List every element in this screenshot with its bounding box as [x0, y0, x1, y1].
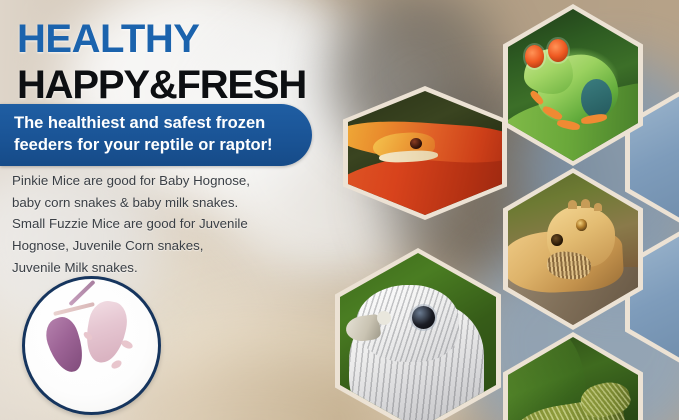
hex-tile-falcon [335, 248, 501, 420]
hex-tile-lizard-image [508, 337, 638, 420]
hex-tile-frog [503, 4, 643, 166]
feeder-banner-ad: HEALTHY HAPPY&FRESH The healthiest and s… [0, 0, 679, 420]
dragon-eye [576, 219, 588, 231]
body-copy-line: Small Fuzzie Mice are good for Juvenile [12, 213, 312, 235]
dragon-spike [581, 199, 590, 208]
hex-tile-snake [343, 86, 507, 220]
body-copy-line: baby corn snakes & baby milk snakes. [12, 192, 312, 214]
body-copy-line: Pinkie Mice are good for Baby Hognose, [12, 170, 312, 192]
hex-tile-frog-image [508, 9, 638, 161]
pinkie-mice-photo [22, 276, 161, 415]
dragon-spike [594, 203, 602, 211]
hex-tile-falcon-image [340, 253, 496, 420]
hex-tile-dragon [503, 168, 643, 330]
dragon-spike [568, 200, 577, 209]
falcon-eye [412, 306, 435, 329]
tagline-banner: The healthiest and safest frozen feeders… [0, 104, 312, 166]
mouse-tail [53, 302, 95, 316]
hex-tile-dragon-image [508, 173, 638, 325]
headline-line-2: HAPPY&FRESH [17, 65, 306, 105]
frog-photo [508, 9, 638, 161]
dragon-nostril [551, 234, 563, 246]
body-copy-line: Hognose, Juvenile Corn snakes, [12, 235, 312, 257]
body-copy-line: Juvenile Milk snakes. [12, 257, 312, 279]
frog-eye [548, 39, 568, 62]
headline: HEALTHY HAPPY&FRESH [17, 19, 306, 105]
dragon-photo [508, 173, 638, 325]
lizard-photo [508, 337, 638, 420]
falcon-photo [340, 253, 496, 420]
mouse-paw [120, 339, 134, 350]
lizard-head [577, 377, 633, 420]
mouse-paw [110, 359, 123, 371]
pinkie-mouse [41, 313, 89, 376]
tagline-line-1: The healthiest and safest frozen [14, 113, 312, 135]
frog-flank [581, 79, 612, 119]
snake-photo [348, 91, 502, 215]
body-copy: Pinkie Mice are good for Baby Hognose, b… [12, 170, 312, 278]
hex-tile-lizard [503, 332, 643, 420]
hex-tile-snake-image [348, 91, 502, 215]
headline-line-1: HEALTHY [17, 19, 306, 59]
tagline-line-2: feeders for your reptile or raptor! [14, 135, 312, 157]
